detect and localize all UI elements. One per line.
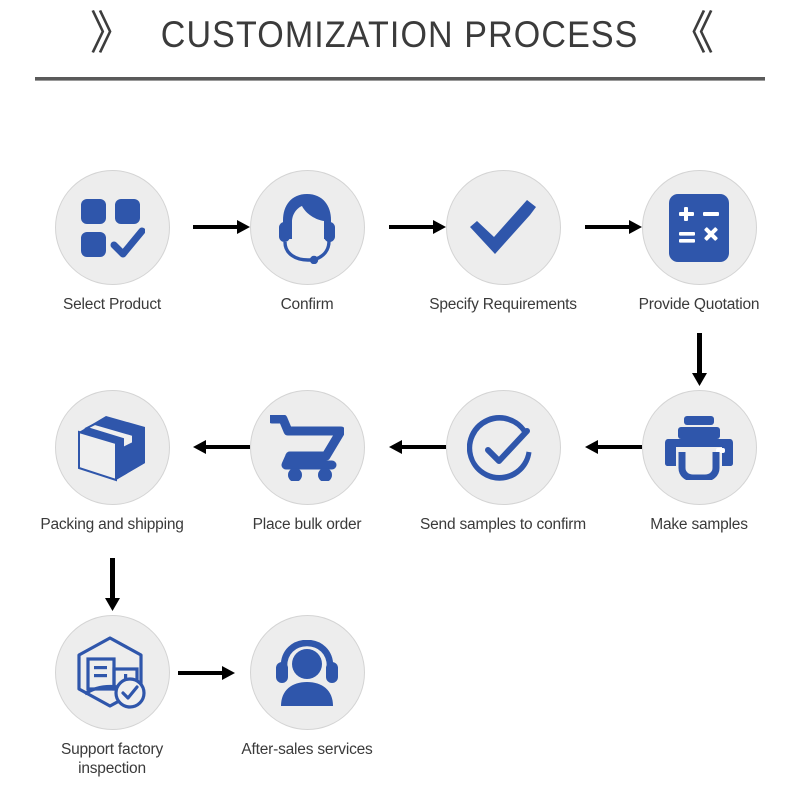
step-node-support-factory-inspection[interactable]: Support factory inspection xyxy=(27,615,197,778)
step-icon-circle xyxy=(642,390,757,505)
step-node-packing-and-shipping[interactable]: Packing and shipping xyxy=(27,390,197,534)
step-node-after-sales-services[interactable]: After-sales services xyxy=(222,615,392,759)
step-icon-circle xyxy=(446,390,561,505)
arrow-confirm-to-specify xyxy=(389,217,447,237)
step-node-place-bulk-order[interactable]: Place bulk order xyxy=(222,390,392,534)
step-node-send-samples[interactable]: Send samples to confirm xyxy=(418,390,588,534)
step-label: Packing and shipping xyxy=(27,515,197,534)
shopping-cart-icon xyxy=(270,415,344,481)
arrow-bulk-order-to-packing xyxy=(193,437,251,457)
step-label: Place bulk order xyxy=(222,515,392,534)
arrow-make-samples-to-send xyxy=(585,437,643,457)
arrow-select-to-confirm xyxy=(193,217,251,237)
arrow-send-to-bulk-order xyxy=(389,437,447,457)
agent-headset-icon xyxy=(272,192,342,264)
step-icon-circle xyxy=(55,615,170,730)
grid-check-icon xyxy=(79,197,145,259)
step-label: Send samples to confirm xyxy=(418,515,588,534)
step-node-select-product[interactable]: Select Product xyxy=(27,170,197,314)
step-node-specify-requirements[interactable]: Specify Requirements xyxy=(418,170,588,314)
step-label: Specify Requirements xyxy=(418,295,588,314)
printer-icon xyxy=(664,416,734,480)
step-icon-circle xyxy=(250,390,365,505)
step-label: Select Product xyxy=(27,295,197,314)
arrow-inspection-to-after-sales xyxy=(178,663,236,683)
step-icon-circle xyxy=(55,170,170,285)
circle-check-icon xyxy=(467,412,539,484)
support-person-icon xyxy=(271,640,343,706)
step-label: After-sales services xyxy=(222,740,392,759)
arrow-quotation-to-make-samples xyxy=(690,333,710,387)
step-label: Confirm xyxy=(222,295,392,314)
calculator-icon xyxy=(669,194,729,262)
step-icon-circle xyxy=(446,170,561,285)
step-label: Make samples xyxy=(614,515,784,534)
chevron-left-decoration-icon: 《 xyxy=(668,10,710,56)
page-header: 》 CUSTOMIZATION PROCESS 《 xyxy=(0,0,800,90)
arrow-specify-to-quotation xyxy=(585,217,643,237)
page-title: CUSTOMIZATION PROCESS xyxy=(157,12,642,58)
step-label: Support factory inspection xyxy=(27,740,197,778)
package-box-icon xyxy=(76,413,148,483)
step-node-make-samples[interactable]: Make samples xyxy=(614,390,784,534)
step-icon-circle xyxy=(250,170,365,285)
chevron-right-decoration-icon: 》 xyxy=(90,10,132,56)
step-icon-circle xyxy=(55,390,170,505)
title-divider xyxy=(35,77,765,81)
step-icon-circle xyxy=(250,615,365,730)
factory-inspection-icon xyxy=(75,636,149,710)
step-icon-circle xyxy=(642,170,757,285)
step-node-provide-quotation[interactable]: Provide Quotation xyxy=(614,170,784,314)
arrow-packing-to-inspection xyxy=(103,558,123,612)
title-row: 》 CUSTOMIZATION PROCESS 《 xyxy=(0,12,800,58)
checkmark-icon xyxy=(467,197,539,259)
step-node-confirm[interactable]: Confirm xyxy=(222,170,392,314)
step-label: Provide Quotation xyxy=(614,295,784,314)
